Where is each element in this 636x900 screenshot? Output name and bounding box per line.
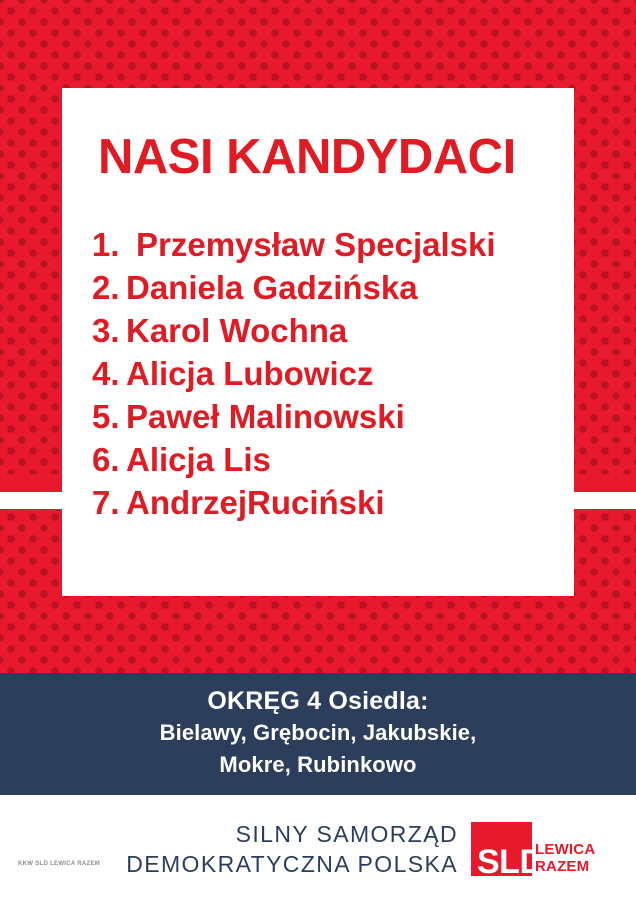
logo-lewica-line: LEWICA: [535, 841, 595, 858]
list-item: 2. Daniela Gadzińska: [92, 266, 564, 309]
district-line: Bielawy, Grębocin, Jakubskie,: [0, 717, 636, 749]
district-neighbourhood-list: Bielawy, Grębocin, Jakubskie, Mokre, Rub…: [0, 717, 636, 781]
candidate-number: 1.: [92, 223, 136, 266]
candidate-number: 5.: [92, 395, 126, 438]
candidates-panel: NASI KANDYDACI 1. Przemysław Specjalski …: [62, 88, 574, 596]
candidate-number: 6.: [92, 438, 126, 481]
candidate-number: 4.: [92, 352, 126, 395]
logo-razem-line: RAZEM: [535, 858, 595, 875]
candidate-name: AndrzejRuciński: [126, 481, 385, 524]
candidate-number: 2.: [92, 266, 126, 309]
sld-lewica-razem-logo: SLD LEWICA RAZEM: [471, 822, 594, 876]
right-white-notch: [574, 492, 636, 509]
list-item: 5. Paweł Malinowski: [92, 395, 564, 438]
district-band: OKRĘG 4 Osiedla: Bielawy, Grębocin, Jaku…: [0, 673, 636, 795]
slogan-line-2: DEMOKRATYCZNA POLSKA: [126, 849, 458, 879]
list-item: 7. AndrzejRuciński: [92, 481, 564, 524]
district-line: Mokre, Rubinkowo: [0, 749, 636, 781]
candidate-name: Paweł Malinowski: [126, 395, 405, 438]
candidate-name: Daniela Gadzińska: [126, 266, 418, 309]
page-title: NASI KANDYDACI: [98, 133, 516, 182]
list-item: 1. Przemysław Specjalski: [92, 223, 564, 266]
candidate-name: Karol Wochna: [126, 309, 347, 352]
logo-lewica-razem-block: LEWICA RAZEM: [532, 822, 594, 876]
candidate-name: Alicja Lubowicz: [126, 352, 374, 395]
logo-lewica-razem-text: LEWICA RAZEM: [535, 841, 595, 875]
list-item: 4. Alicja Lubowicz: [92, 352, 564, 395]
candidate-name: Alicja Lis: [126, 438, 271, 481]
candidate-number: 7.: [92, 481, 126, 524]
committee-disclaimer: KKW SLD LEWICA RAZEM: [18, 861, 100, 867]
campaign-slogan: SILNY SAMORZĄD DEMOKRATYCZNA POLSKA: [126, 819, 458, 879]
list-item: 6. Alicja Lis: [92, 438, 564, 481]
slogan-line-1: SILNY SAMORZĄD: [126, 819, 458, 849]
campaign-poster: NASI KANDYDACI 1. Przemysław Specjalski …: [0, 0, 636, 900]
district-heading: OKRĘG 4 Osiedla:: [0, 673, 636, 717]
candidate-name: Przemysław Specjalski: [136, 223, 496, 266]
candidate-number: 3.: [92, 309, 126, 352]
candidate-list: 1. Przemysław Specjalski 2. Daniela Gadz…: [92, 223, 564, 524]
list-item: 3. Karol Wochna: [92, 309, 564, 352]
left-white-notch: [0, 492, 62, 509]
